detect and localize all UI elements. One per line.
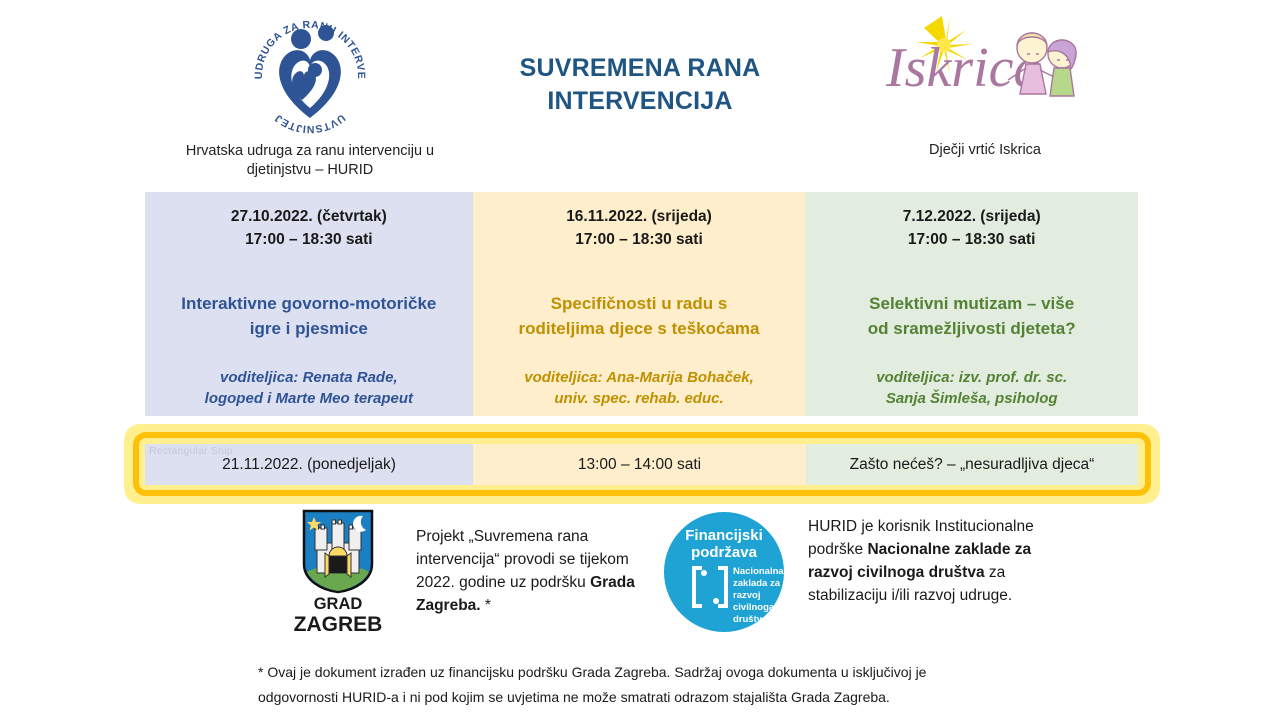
- grad-zagreb-paragraph: Projekt „Suvremena rana intervencija“ pr…: [416, 526, 636, 618]
- svg-text:podržava: podržava: [691, 544, 758, 561]
- poster-title-line1: SUVREMENA RANA: [470, 52, 810, 85]
- schedule-time-2: 17:00 – 18:30 sati: [489, 229, 790, 252]
- poster-title-line2: INTERVENCIJA: [470, 85, 810, 118]
- svg-text:Financijski: Financijski: [685, 527, 763, 544]
- schedule-lead-2-line2: univ. spec. rehab. educ.: [489, 388, 790, 409]
- schedule-lead-3-line2: Sanja Šimleša, psiholog: [821, 388, 1122, 409]
- schedule-time-3: 17:00 – 18:30 sati: [821, 229, 1122, 252]
- schedule-date-2: 16.11.2022. (srijeda): [489, 206, 790, 229]
- disclaimer-footnote: * Ovaj je dokument izrađen uz financijsk…: [258, 660, 1018, 710]
- highlight-date-cell: 21.11.2022. (ponedjeljak): [145, 444, 473, 485]
- svg-text:razvoj: razvoj: [733, 590, 760, 601]
- disclaimer-line1: * Ovaj je dokument izrađen uz financijsk…: [258, 660, 1018, 685]
- schedule-date-3: 7.12.2022. (srijeda): [821, 206, 1122, 229]
- schedule-lead-1-line1: voditeljica: Renata Rade,: [161, 367, 457, 388]
- grad-zagreb-label-line2: ZAGREB: [292, 614, 384, 637]
- svg-text:civilnoga: civilnoga: [733, 602, 775, 613]
- hurid-caption: Hrvatska udruga za ranu intervenciju u d…: [145, 142, 475, 180]
- schedule-column-3: 7.12.2022. (srijeda) 17:00 – 18:30 sati …: [805, 192, 1138, 416]
- iskrica-caption: Dječji vrtić Iskrica: [830, 142, 1140, 158]
- grad-zagreb-coat-of-arms-icon: [301, 508, 375, 594]
- schedule-topic-1-line1: Interaktivne govorno-motoričke: [161, 292, 457, 317]
- schedule-topic-1-line2: igre i pjesmice: [161, 317, 457, 342]
- schedule-grid: 27.10.2022. (četvrtak) 17:00 – 18:30 sat…: [145, 192, 1138, 416]
- poster-header: HRVATSKA UDRUGA ZA RANU INTERVENCIJU U D…: [0, 0, 1280, 180]
- hurid-caption-line2: djetinjstvu – HURID: [145, 161, 475, 180]
- schedule-lead-2-line1: voditeljica: Ana-Marija Bohaček,: [489, 367, 790, 388]
- nacionalna-zaklada-block: Financijski podržava Nacionalna zaklada …: [662, 510, 786, 634]
- schedule-topic-3-line1: Selektivni mutizam – više: [821, 292, 1122, 317]
- schedule-lead-3-line1: voditeljica: izv. prof. dr. sc.: [821, 367, 1122, 388]
- nacionalna-zaklada-paragraph: HURID je korisnik Institucionalne podršk…: [808, 516, 1078, 608]
- schedule-date-1: 27.10.2022. (četvrtak): [161, 206, 457, 229]
- highlighted-schedule-row: 21.11.2022. (ponedjeljak) 13:00 – 14:00 …: [145, 444, 1138, 485]
- schedule-time-1: 17:00 – 18:30 sati: [161, 229, 457, 252]
- svg-text:Nacionalna: Nacionalna: [733, 566, 784, 577]
- hurid-heart-family-logo-icon: HRVATSKA UDRUGA ZA RANU INTERVENCIJU U D…: [244, 8, 376, 138]
- svg-text:zaklada za: zaklada za: [733, 578, 781, 589]
- poster-title: SUVREMENA RANA INTERVENCIJA: [470, 52, 810, 118]
- schedule-topic-2-line2: roditeljima djece s teškoćama: [489, 317, 790, 342]
- grad-zagreb-label-line1: GRAD: [314, 595, 363, 613]
- poster-page: HRVATSKA UDRUGA ZA RANU INTERVENCIJU U D…: [0, 0, 1280, 720]
- svg-text:društva: društva: [733, 614, 768, 625]
- hurid-logo-block: HRVATSKA UDRUGA ZA RANU INTERVENCIJU U D…: [145, 8, 475, 180]
- nacionalna-zaklada-logo-icon: Financijski podržava Nacionalna zaklada …: [662, 510, 786, 634]
- grad-zagreb-block: GRAD ZAGREB: [292, 508, 384, 636]
- disclaimer-line2: odgovornosti HURID-a i ni pod kojim se u…: [258, 685, 1018, 710]
- hurid-caption-line1: Hrvatska udruga za ranu intervenciju u: [145, 142, 475, 161]
- iskrica-star-children-logo-icon: Iskrica: [880, 8, 1090, 104]
- highlight-topic-cell: Zašto nećeš? – „nesuradljiva djeca“: [806, 444, 1138, 485]
- grad-zagreb-label: GRAD ZAGREB: [292, 596, 384, 636]
- iskrica-logo-block: Iskrica Dječji vrtić Iskrica: [830, 8, 1140, 158]
- zagreb-text-2: *: [481, 597, 491, 614]
- schedule-lead-1-line2: logoped i Marte Meo terapeut: [161, 388, 457, 409]
- schedule-column-1: 27.10.2022. (četvrtak) 17:00 – 18:30 sat…: [145, 192, 473, 416]
- partners-section: GRAD ZAGREB Projekt „Suvremena rana inte…: [0, 506, 1280, 646]
- schedule-column-2: 16.11.2022. (srijeda) 17:00 – 18:30 sati…: [473, 192, 806, 416]
- highlight-time-cell: 13:00 – 14:00 sati: [473, 444, 806, 485]
- schedule-topic-3-line2: od sramežljivosti djeteta?: [821, 317, 1122, 342]
- schedule-topic-2-line1: Specifičnosti u radu s: [489, 292, 790, 317]
